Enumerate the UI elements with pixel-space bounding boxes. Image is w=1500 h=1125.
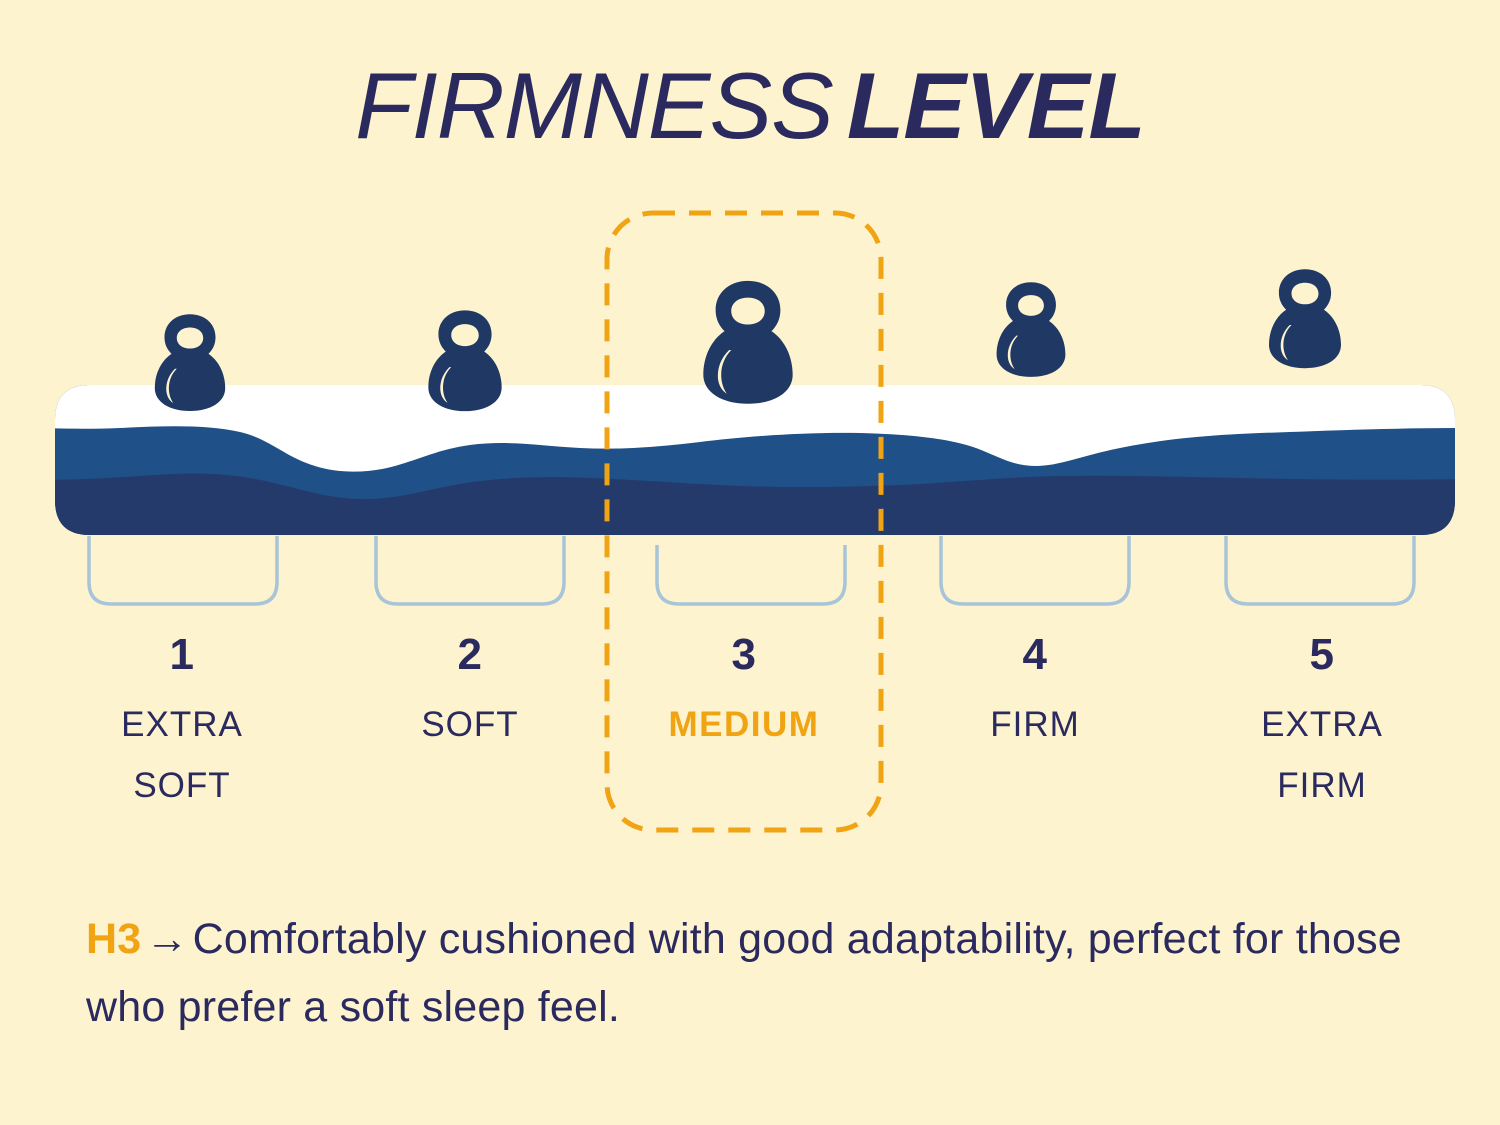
scale-number-1: 1	[72, 628, 292, 682]
scale-label-1-line2: SOFT	[72, 755, 292, 816]
scale-label-2: SOFT	[360, 694, 580, 755]
kettlebell-icon	[1269, 269, 1341, 368]
scale-number-3: 3	[634, 628, 854, 682]
scale-item-2[interactable]: 2 SOFT	[360, 628, 580, 755]
segment-brackets	[89, 536, 1414, 604]
firmness-tag-badge: H3	[86, 915, 141, 963]
bracket-2	[376, 536, 564, 604]
description-text: Comfortably cushioned with good adaptabi…	[86, 915, 1402, 1031]
scale-label-2-line1: SOFT	[360, 694, 580, 755]
infographic-canvas: FIRMNESSLEVEL	[0, 0, 1500, 1125]
scale-item-3[interactable]: 3 MEDIUM	[634, 628, 854, 755]
kettlebell-icon	[155, 314, 225, 411]
scale-label-5-line2: FIRM	[1212, 755, 1432, 816]
kettlebell-icon	[703, 281, 792, 404]
description-footnote: H3→Comfortably cushioned with good adapt…	[86, 905, 1426, 1041]
scale-label-3: MEDIUM	[634, 694, 854, 755]
scale-number-2: 2	[360, 628, 580, 682]
scale-item-1[interactable]: 1 EXTRA SOFT	[72, 628, 292, 816]
scale-item-5[interactable]: 5 EXTRA FIRM	[1212, 628, 1432, 816]
scale-label-5-line1: EXTRA	[1212, 694, 1432, 755]
scale-label-5: EXTRA FIRM	[1212, 694, 1432, 816]
bracket-5	[1226, 536, 1414, 604]
bracket-3	[657, 545, 845, 604]
scale-label-1: EXTRA SOFT	[72, 694, 292, 816]
arrow-icon: →	[141, 915, 192, 963]
scale-label-4-line1: FIRM	[925, 694, 1145, 755]
scale-item-4[interactable]: 4 FIRM	[925, 628, 1145, 755]
kettlebell-icon	[428, 310, 501, 411]
bracket-1	[89, 536, 277, 604]
scale-number-5: 5	[1212, 628, 1432, 682]
scale-number-4: 4	[925, 628, 1145, 682]
scale-label-4: FIRM	[925, 694, 1145, 755]
bracket-4	[941, 536, 1129, 604]
scale-label-1-line1: EXTRA	[72, 694, 292, 755]
scale-label-row: 1 EXTRA SOFT 2 SOFT 3 MEDIUM 4 FIRM	[0, 628, 1500, 838]
scale-label-3-line1: MEDIUM	[634, 694, 854, 755]
kettlebell-icon	[997, 282, 1066, 377]
